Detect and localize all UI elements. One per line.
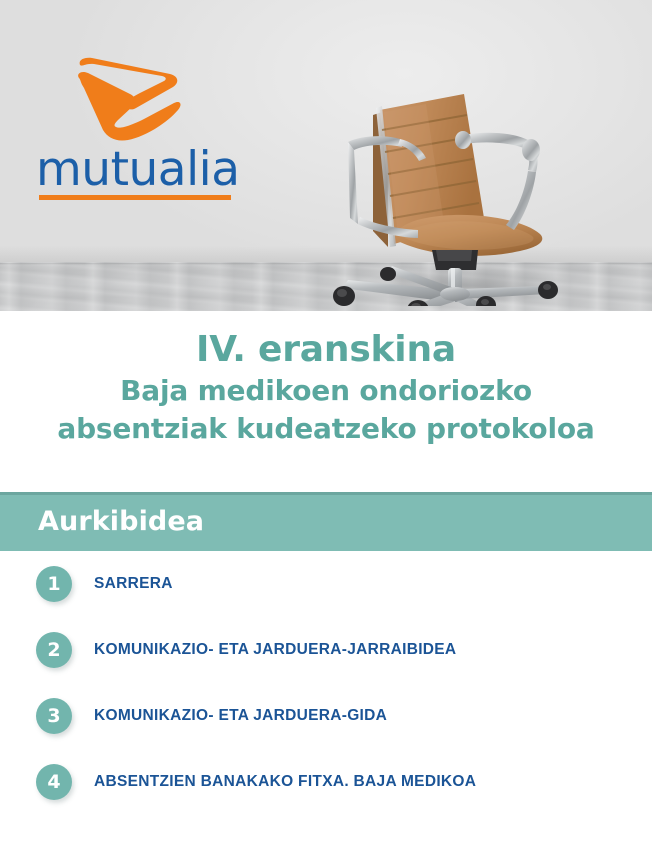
mutualia-swoosh-icon — [74, 56, 184, 142]
toc-number-badge: 3 — [36, 698, 72, 734]
mutualia-underline — [39, 195, 231, 200]
toc-item-2[interactable]: 2 KOMUNIKAZIO- ETA JARDUERA-JARRAIBIDEA — [0, 617, 652, 683]
toc-number-badge: 1 — [36, 566, 72, 602]
mutualia-logo: mutualia — [36, 56, 236, 206]
toc-item-1[interactable]: 1 SARRERA — [0, 551, 652, 617]
page-subtitle-line2: absentziak kudeatzeko protokoloa — [0, 410, 652, 448]
page-subtitle-line1: Baja medikoen ondoriozko — [0, 372, 652, 410]
page-title: IV. eranskina — [0, 328, 652, 372]
document-page: mutualia IV. eranskina Baja medikoen ond… — [0, 0, 652, 850]
toc-item-label[interactable]: KOMUNIKAZIO- ETA JARDUERA-GIDA — [94, 707, 387, 725]
office-chair-icon — [326, 18, 590, 306]
toc-item-4[interactable]: 4 ABSENTZIEN BANAKAKO FITXA. BAJA MEDIKO… — [0, 749, 652, 815]
toc-item-3[interactable]: 3 KOMUNIKAZIO- ETA JARDUERA-GIDA — [0, 683, 652, 749]
toc-number-badge: 2 — [36, 632, 72, 668]
mutualia-wordmark: mutualia — [36, 142, 236, 198]
toc-item-label[interactable]: KOMUNIKAZIO- ETA JARDUERA-JARRAIBIDEA — [94, 641, 456, 659]
toc-item-label[interactable]: ABSENTZIEN BANAKAKO FITXA. BAJA MEDIKOA — [94, 773, 476, 791]
index-heading: Aurkibidea — [38, 506, 204, 537]
toc-number-badge: 4 — [36, 764, 72, 800]
index-header-bar: Aurkibidea — [0, 492, 652, 551]
hero-photo-banner: mutualia — [0, 0, 652, 311]
title-block: IV. eranskina Baja medikoen ondoriozko a… — [0, 311, 652, 492]
toc-item-label[interactable]: SARRERA — [94, 575, 173, 593]
table-of-contents: 1 SARRERA 2 KOMUNIKAZIO- ETA JARDUERA-JA… — [0, 551, 652, 815]
